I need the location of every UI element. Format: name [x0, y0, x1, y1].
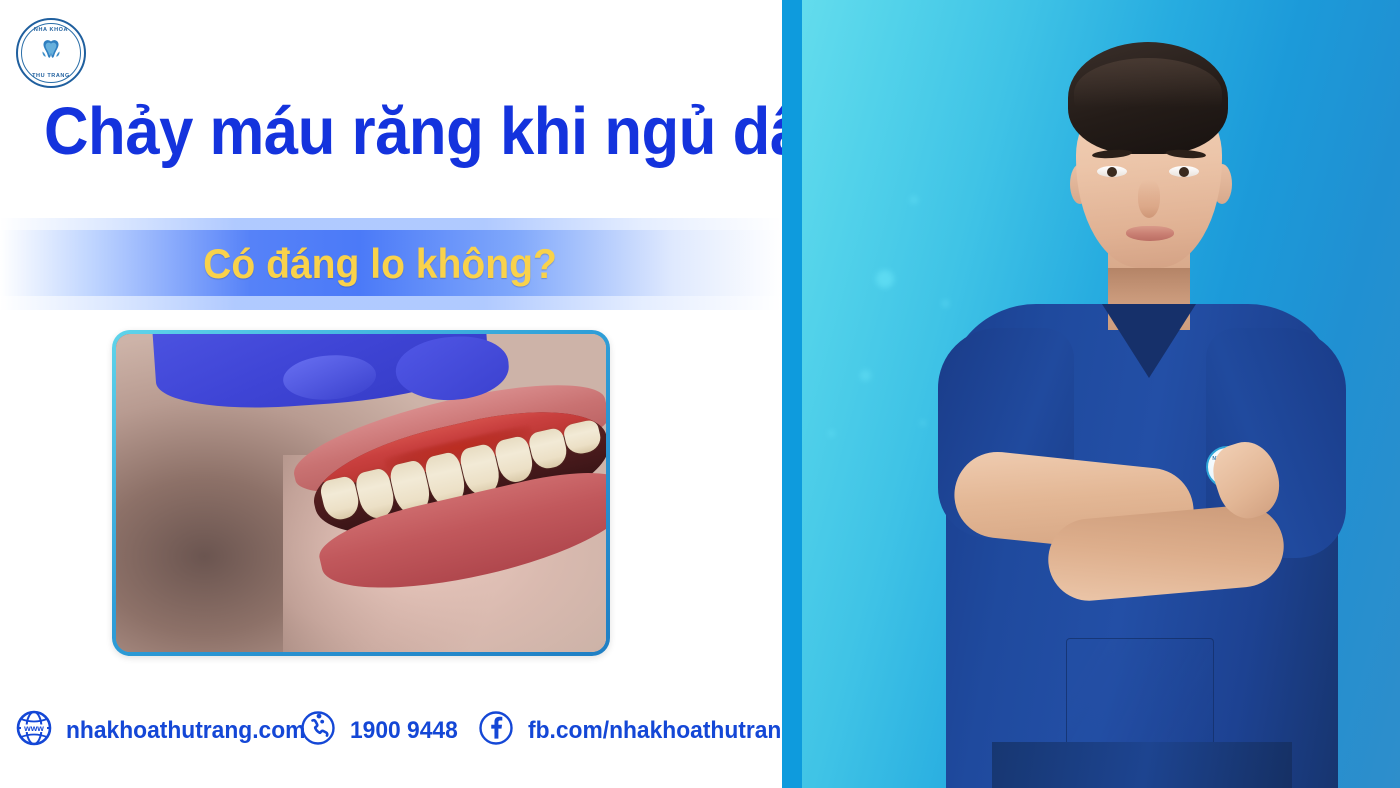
- dental-promo-banner: NHA KHOA THU TRANG Chảy máu răng khi ngủ…: [0, 0, 1400, 788]
- bokeh-dot: [828, 430, 835, 437]
- dentist-nose: [1138, 180, 1160, 218]
- photo-glove-knuckle: [281, 352, 377, 403]
- page-title: Chảy máu răng khi ngủ dậy: [44, 98, 697, 165]
- bleeding-gums-photo-frame: [112, 330, 610, 656]
- facebook-icon: [476, 708, 516, 753]
- footer-contact-bar: www nhakhoathutrang.com 1900 9448: [0, 706, 782, 762]
- globe-icon: www: [14, 708, 54, 753]
- contact-website[interactable]: www nhakhoathutrang.com: [14, 708, 318, 753]
- svg-text:www: www: [23, 723, 44, 733]
- dentist-figure: NHA KHOA: [920, 42, 1360, 788]
- dentist-v-neckline: [1102, 304, 1196, 382]
- tooth-heart-icon: [36, 36, 66, 71]
- doctor-photo-panel: NHA KHOA: [802, 0, 1400, 788]
- dentist-left-eye: [1097, 166, 1127, 177]
- logo-bottom-label: THU TRANG: [16, 73, 86, 79]
- page-subtitle: Có đáng lo không?: [27, 218, 734, 310]
- bokeh-dot: [860, 370, 871, 381]
- dentist-hair: [1068, 42, 1228, 154]
- dentist-mouth: [1126, 226, 1174, 241]
- dentist-scrub-pants: [992, 742, 1292, 788]
- bokeh-dot: [876, 270, 894, 288]
- clinic-logo[interactable]: NHA KHOA THU TRANG: [16, 18, 86, 88]
- dentist-right-eye: [1169, 166, 1199, 177]
- left-content-panel: NHA KHOA THU TRANG Chảy máu răng khi ngủ…: [0, 0, 782, 788]
- phone-label: 1900 9448: [350, 717, 458, 745]
- phone-icon: [298, 708, 338, 753]
- contact-phone[interactable]: 1900 9448: [298, 708, 463, 753]
- logo-top-label: NHA KHOA: [16, 27, 86, 33]
- bleeding-gums-photo: [116, 334, 606, 652]
- website-label: nhakhoathutrang.com: [66, 717, 305, 745]
- bokeh-dot: [910, 196, 918, 204]
- accent-strip: [782, 0, 802, 788]
